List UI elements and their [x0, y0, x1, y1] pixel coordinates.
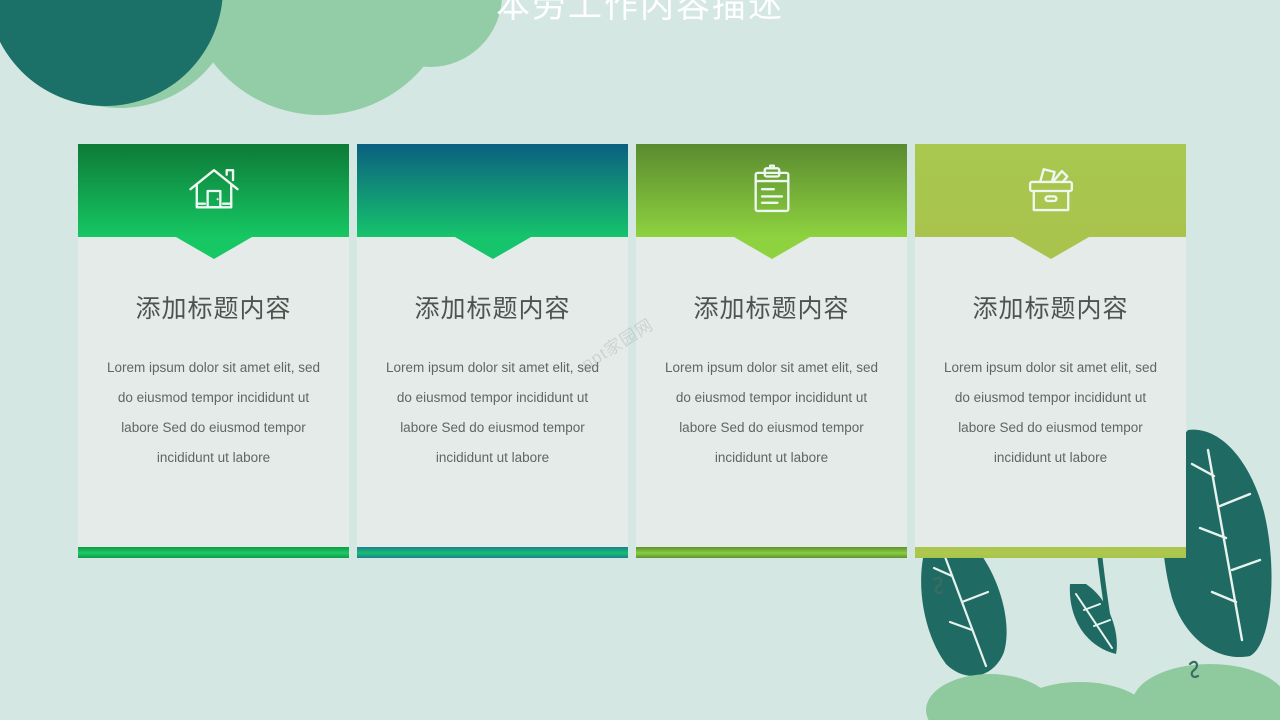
blank-icon — [464, 162, 522, 220]
card-4-header — [915, 144, 1186, 237]
card-1-body: 添加标题内容 Lorem ipsum dolor sit amet elit, … — [78, 237, 349, 547]
card-1-accent-bar — [78, 547, 349, 558]
bush-right — [1132, 664, 1280, 720]
card-2-notch — [455, 237, 531, 259]
card-3-title: 添加标题内容 — [650, 289, 893, 325]
card-2-accent-bar — [357, 547, 628, 558]
curl-marks — [920, 538, 1198, 677]
card-1-title: 添加标题内容 — [92, 289, 335, 325]
card-2-title: 添加标题内容 — [371, 289, 614, 325]
card-4-notch — [1013, 237, 1089, 259]
card-1-text: Lorem ipsum dolor sit amet elit, sed do … — [92, 353, 335, 473]
leaf-mid — [1070, 584, 1117, 654]
card-1-notch — [176, 237, 252, 259]
card-1[interactable]: 添加标题内容 Lorem ipsum dolor sit amet elit, … — [78, 144, 349, 558]
card-2-body: 添加标题内容 Lorem ipsum dolor sit amet elit, … — [357, 237, 628, 547]
card-3-header — [636, 144, 907, 237]
card-4[interactable]: 添加标题内容 Lorem ipsum dolor sit amet elit, … — [915, 144, 1186, 558]
card-4-accent-bar — [915, 547, 1186, 558]
bush-left — [926, 674, 1054, 720]
card-3-accent-bar — [636, 547, 907, 558]
leaf-right-veins — [1192, 450, 1260, 640]
card-4-text: Lorem ipsum dolor sit amet elit, sed do … — [929, 353, 1172, 473]
card-1-header — [78, 144, 349, 237]
card-2-header — [357, 144, 628, 237]
bush-center — [1010, 682, 1150, 720]
page-title: 本劳工作内容描述 — [0, 0, 1280, 27]
card-row: 添加标题内容 Lorem ipsum dolor sit amet elit, … — [78, 144, 1202, 558]
house-icon — [185, 162, 243, 220]
card-4-body: 添加标题内容 Lorem ipsum dolor sit amet elit, … — [915, 237, 1186, 547]
card-2[interactable]: 添加标题内容 Lorem ipsum dolor sit amet elit, … — [357, 144, 628, 558]
card-3-body: 添加标题内容 Lorem ipsum dolor sit amet elit, … — [636, 237, 907, 547]
card-3[interactable]: 添加标题内容 Lorem ipsum dolor sit amet elit, … — [636, 144, 907, 558]
card-2-text: Lorem ipsum dolor sit amet elit, sed do … — [371, 353, 614, 473]
card-3-notch — [734, 237, 810, 259]
card-3-text: Lorem ipsum dolor sit amet elit, sed do … — [650, 353, 893, 473]
archive-box-icon — [1022, 162, 1080, 220]
card-4-title: 添加标题内容 — [929, 289, 1172, 325]
clipboard-icon — [743, 162, 801, 220]
